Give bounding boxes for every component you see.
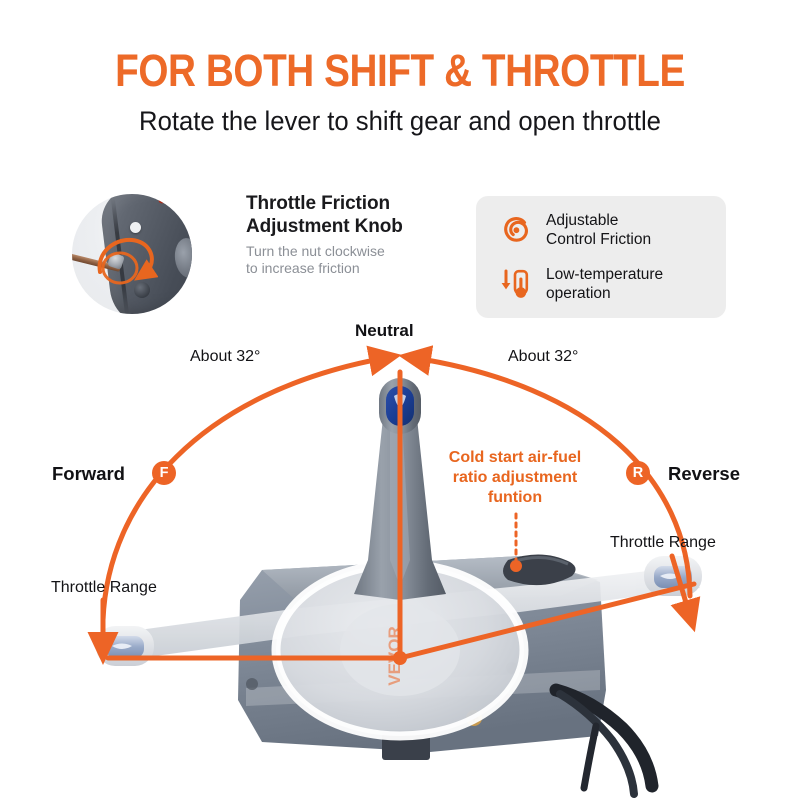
feature-box: Adjustable Control Friction Low-temperat… xyxy=(476,196,726,318)
pivot-right-line xyxy=(400,584,694,658)
spiral-friction-icon xyxy=(498,210,534,250)
thermometer-down-arrow-icon xyxy=(498,264,534,304)
label-throttle-range-left: Throttle Range xyxy=(51,579,157,597)
feature-1-line2: Control Friction xyxy=(546,231,651,248)
badge-reverse: R xyxy=(626,461,650,485)
feature-item-adjustable-friction: Adjustable Control Friction xyxy=(498,210,651,250)
badge-forward: F xyxy=(152,461,176,485)
feature-item-low-temperature: Low-temperature operation xyxy=(498,264,663,304)
label-cold-start-note: Cold start air-fuel ratio adjustment fun… xyxy=(440,448,590,508)
pivot-point xyxy=(393,651,407,665)
label-angle-left: About 32° xyxy=(190,348,260,366)
friction-knob-text: Throttle Friction Adjustment Knob Turn t… xyxy=(246,192,446,277)
cold-start-marker xyxy=(510,560,522,572)
label-throttle-range-right: Throttle Range xyxy=(610,534,716,552)
knob-sub-line2: to increase friction xyxy=(246,260,360,276)
feature-1-line1: Adjustable xyxy=(546,212,618,229)
infographic-canvas: FOR BOTH SHIFT & THROTTLE Rotate the lev… xyxy=(0,0,800,800)
feature-label-2: Low-temperature operation xyxy=(546,265,663,303)
brand-mark: VEVOR xyxy=(385,626,404,686)
clockwise-rotation-arrow-icon xyxy=(94,232,158,290)
friction-knob-photo xyxy=(72,194,192,314)
knob-title-line2: Adjustment Knob xyxy=(246,216,403,237)
feature-label-1: Adjustable Control Friction xyxy=(546,211,651,249)
throttle-range-right-arrow xyxy=(672,556,690,616)
knob-sub-line1: Turn the nut clockwise xyxy=(246,243,385,259)
label-angle-right: About 32° xyxy=(508,348,578,366)
label-reverse: Reverse xyxy=(668,463,740,485)
feature-2-line2: operation xyxy=(546,285,611,302)
page-subtitle: Rotate the lever to shift gear and open … xyxy=(20,104,780,138)
label-neutral: Neutral xyxy=(355,321,414,341)
feature-2-line1: Low-temperature xyxy=(546,266,663,283)
friction-knob-callout: Throttle Friction Adjustment Knob Turn t… xyxy=(72,194,442,316)
page-title: FOR BOTH SHIFT & THROTTLE xyxy=(56,48,744,94)
knob-title-line1: Throttle Friction xyxy=(246,193,390,214)
label-forward: Forward xyxy=(52,463,125,485)
